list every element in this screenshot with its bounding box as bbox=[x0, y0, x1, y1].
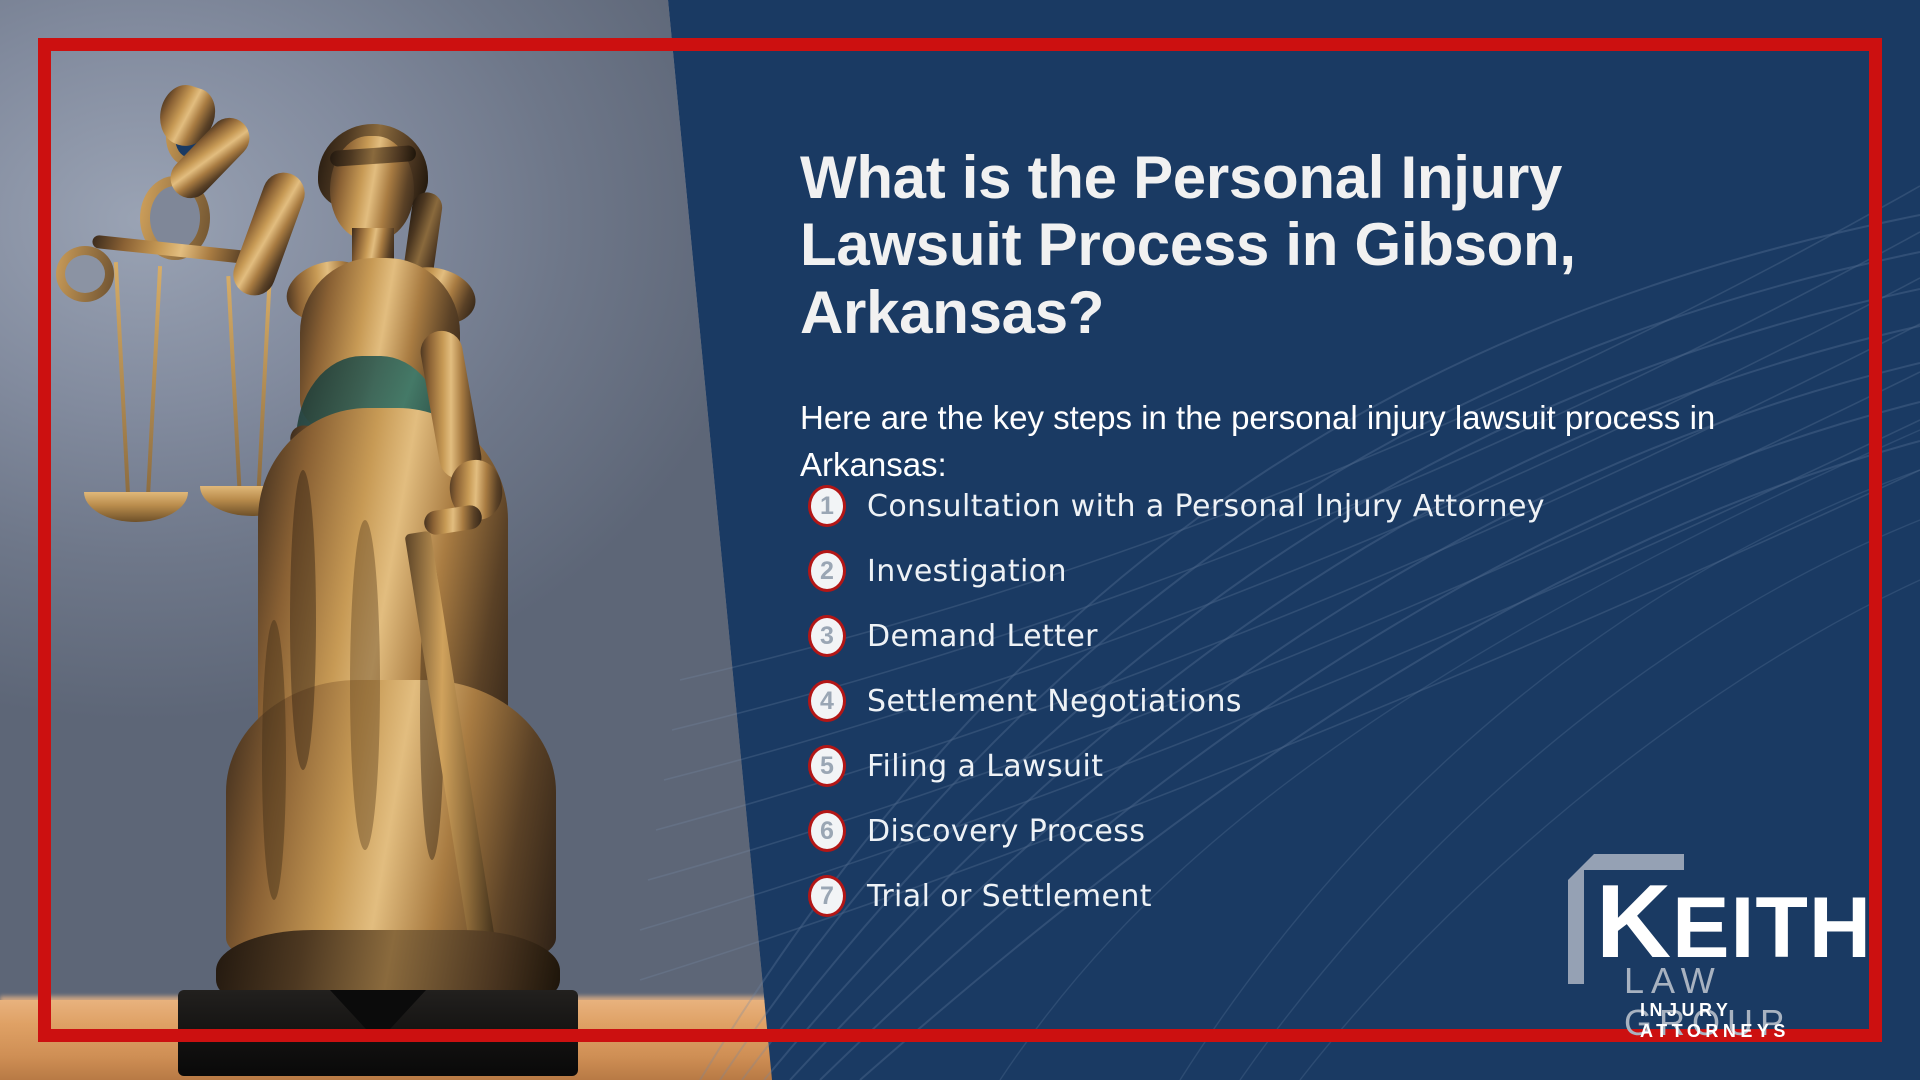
list-item[interactable]: 1 Consultation with a Personal Injury At… bbox=[808, 482, 1808, 530]
list-item[interactable]: 5 Filing a Lawsuit bbox=[808, 742, 1808, 790]
step-number-badge: 6 bbox=[808, 810, 846, 852]
step-number-badge: 3 bbox=[808, 615, 846, 657]
step-label: Demand Letter bbox=[867, 619, 1098, 654]
page-title: What is the Personal Injury Lawsuit Proc… bbox=[800, 144, 1720, 346]
step-label: Trial or Settlement bbox=[867, 879, 1152, 914]
list-item[interactable]: 2 Investigation bbox=[808, 547, 1808, 595]
step-label: Investigation bbox=[867, 554, 1067, 589]
step-label: Filing a Lawsuit bbox=[867, 749, 1103, 784]
step-number-badge: 1 bbox=[808, 485, 846, 527]
list-item[interactable]: 4 Settlement Negotiations bbox=[808, 677, 1808, 725]
keith-law-group-logo[interactable]: KEITH LAW GROUP INJURY ATTORNEYS bbox=[1560, 848, 1860, 1018]
list-item[interactable]: 3 Demand Letter bbox=[808, 612, 1808, 660]
subtitle-text: Here are the key steps in the personal i… bbox=[800, 395, 1740, 489]
infographic-canvas: What is the Personal Injury Lawsuit Proc… bbox=[0, 0, 1920, 1080]
step-number-badge: 2 bbox=[808, 550, 846, 592]
step-number-badge: 4 bbox=[808, 680, 846, 722]
step-number-badge: 7 bbox=[808, 875, 846, 917]
step-label: Settlement Negotiations bbox=[867, 684, 1242, 719]
logo-wordmark: KEITH bbox=[1596, 870, 1872, 974]
logo-tagline: INJURY ATTORNEYS bbox=[1640, 1000, 1860, 1042]
step-number-badge: 5 bbox=[808, 745, 846, 787]
step-label: Discovery Process bbox=[867, 814, 1145, 849]
step-label: Consultation with a Personal Injury Atto… bbox=[867, 489, 1545, 524]
